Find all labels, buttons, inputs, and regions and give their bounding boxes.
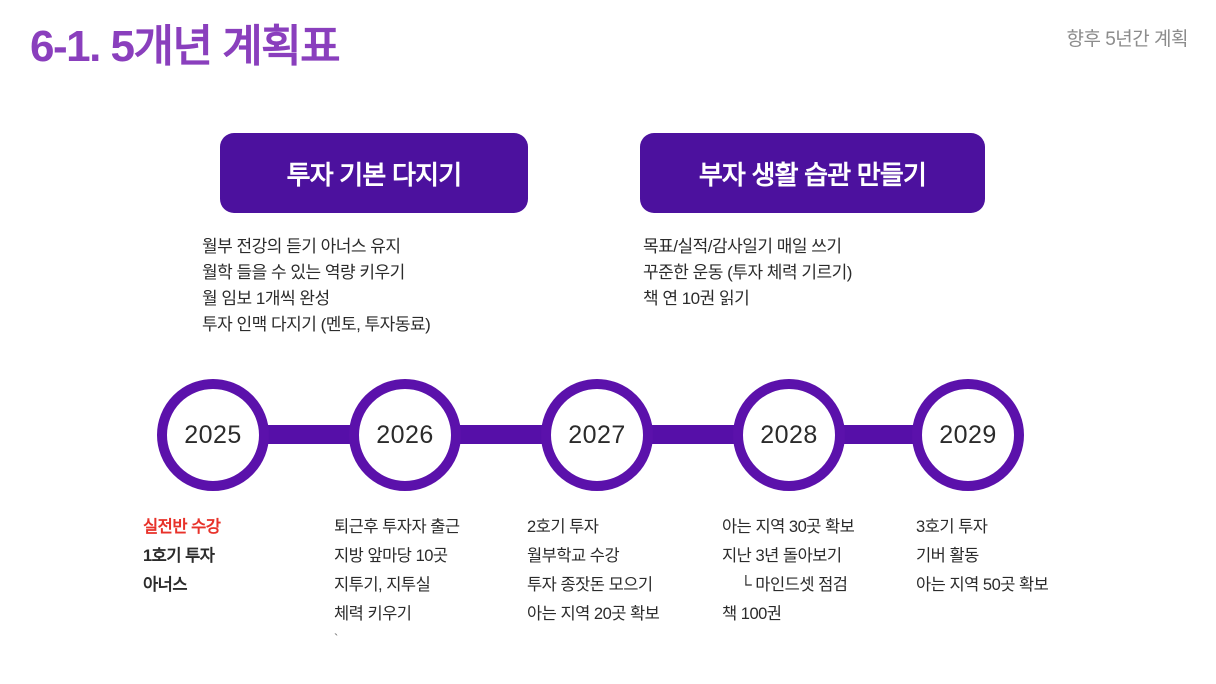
year-item: 지투기, 지투실 — [334, 571, 529, 600]
year-item: 지난 3년 돌아보기 — [722, 542, 927, 571]
goal-list-item: 목표/실적/감사일기 매일 쓰기 — [643, 234, 983, 260]
goal-list-item: 꾸준한 운동 (투자 체력 기르기) — [643, 260, 983, 286]
year-item-sub: └ 마인드셋 점검 — [722, 571, 927, 600]
timeline-connector-2027-2028 — [652, 425, 742, 444]
year-item: 지방 앞마당 10곳 — [334, 542, 529, 571]
timeline-node-2029: 2029 — [912, 379, 1024, 491]
goal-list-investment-basics: 월부 전강의 듣기 아너스 유지 월학 들을 수 있는 역량 키우기 월 임보 … — [202, 234, 532, 338]
goal-banner-rich-habits: 부자 생활 습관 만들기 — [640, 133, 985, 213]
timeline-node-2025: 2025 — [157, 379, 269, 491]
year-item: 체력 키우기 — [334, 600, 529, 629]
year-column-2027: 2호기 투자 월부학교 수강 투자 종잣돈 모으기 아는 지역 20곳 확보 — [527, 513, 732, 629]
year-column-2026: 퇴근후 투자자 출근 지방 앞마당 10곳 지투기, 지투실 체력 키우기 ` — [334, 513, 529, 649]
year-item: 투자 종잣돈 모으기 — [527, 571, 732, 600]
timeline-node-2027: 2027 — [541, 379, 653, 491]
year-item: 아는 지역 30곳 확보 — [722, 513, 927, 542]
year-column-2029: 3호기 투자 기버 활동 아는 지역 50곳 확보 — [916, 513, 1131, 600]
year-item: 월부학교 수강 — [527, 542, 732, 571]
year-item: 실전반 수강 — [143, 513, 333, 542]
goal-banner-investment-basics: 투자 기본 다지기 — [220, 133, 528, 213]
year-item: 1호기 투자 — [143, 542, 333, 571]
goal-list-item: 투자 인맥 다지기 (멘토, 투자동료) — [202, 312, 532, 338]
timeline-connector-2026-2027 — [460, 425, 550, 444]
timeline-node-2026: 2026 — [349, 379, 461, 491]
year-item: 기버 활동 — [916, 542, 1131, 571]
goal-list-item: 월 임보 1개씩 완성 — [202, 286, 532, 312]
year-item: 아는 지역 20곳 확보 — [527, 600, 732, 629]
page-title: 6-1. 5개년 계획표 — [30, 10, 339, 74]
year-item-tick-mark: ` — [334, 629, 529, 649]
goal-list-item: 월부 전강의 듣기 아너스 유지 — [202, 234, 532, 260]
timeline-connector-2028-2029 — [844, 425, 922, 444]
year-item: 아는 지역 50곳 확보 — [916, 571, 1131, 600]
year-item: 책 100권 — [722, 600, 927, 629]
year-column-2025: 실전반 수강 1호기 투자 아너스 — [143, 513, 333, 600]
goal-list-item: 책 연 10권 읽기 — [643, 286, 983, 312]
page-subtitle: 향후 5년간 계획 — [1066, 24, 1188, 51]
year-item: 퇴근후 투자자 출근 — [334, 513, 529, 542]
timeline-connector-2025-2026 — [268, 425, 358, 444]
year-column-2028: 아는 지역 30곳 확보 지난 3년 돌아보기 └ 마인드셋 점검 책 100권 — [722, 513, 927, 629]
slide-canvas: 6-1. 5개년 계획표 향후 5년간 계획 투자 기본 다지기 부자 생활 습… — [0, 0, 1216, 684]
year-item: 2호기 투자 — [527, 513, 732, 542]
goal-list-rich-habits: 목표/실적/감사일기 매일 쓰기 꾸준한 운동 (투자 체력 기르기) 책 연 … — [643, 234, 983, 312]
year-item: 아너스 — [143, 571, 333, 600]
goal-list-item: 월학 들을 수 있는 역량 키우기 — [202, 260, 532, 286]
year-item: 3호기 투자 — [916, 513, 1131, 542]
timeline-node-2028: 2028 — [733, 379, 845, 491]
